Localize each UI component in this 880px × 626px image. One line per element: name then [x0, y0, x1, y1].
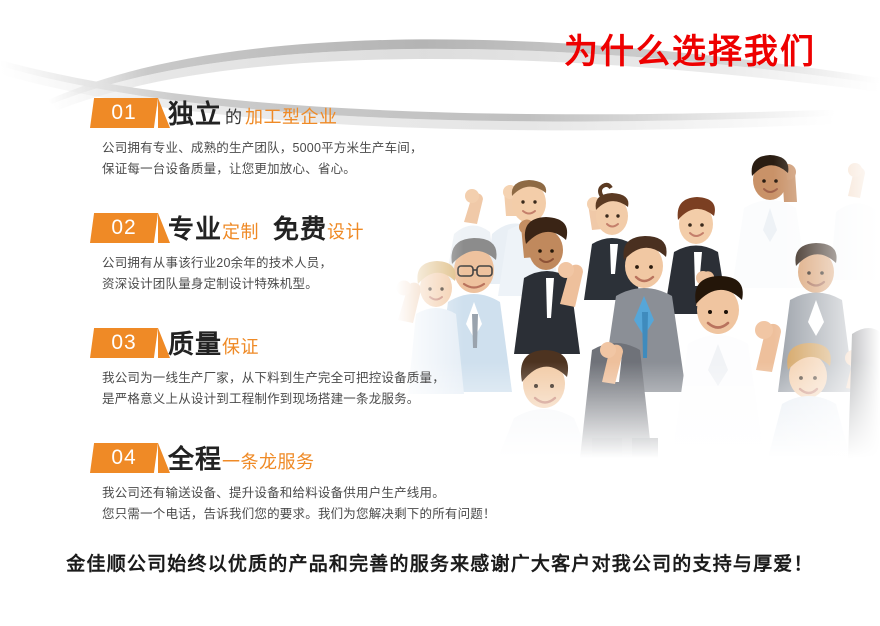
- feature-body: 我公司为一线生产厂家，从下料到生产完全可把控设备质量， 是严格意义上从设计到工程…: [102, 368, 480, 410]
- headline-accent: 保证: [222, 338, 259, 356]
- feature-body-line: 是严格意义上从设计到工程制作到现场搭建一条龙服务。: [102, 389, 480, 410]
- headline-text: 全程 一条龙服务: [168, 446, 315, 473]
- number-badge-01: 01: [90, 98, 158, 128]
- headline-text: 专业 定制 免费 设计: [168, 216, 364, 243]
- headline-strong: 独立: [168, 101, 222, 127]
- headline-text: 质量 保证: [168, 331, 259, 358]
- badge-number: 02: [90, 213, 158, 243]
- page-title: 为什么选择我们: [520, 24, 860, 73]
- headline-accent: 加工型企业: [245, 108, 338, 126]
- badge-flag-icon: [158, 213, 170, 243]
- feature-headline: 04 全程 一条龙服务: [90, 439, 480, 473]
- feature-body-line: 您只需一个电话，告诉我们您的要求。我们为您解决剩下的所有问题！: [102, 504, 480, 525]
- badge-flag-icon: [158, 98, 170, 128]
- badge-flag-icon: [158, 328, 170, 358]
- number-badge-03: 03: [90, 328, 158, 358]
- feature-block-01: 01 独立 的 加工型企业 公司拥有专业、成熟的生产团队，5000平方米生产车间…: [90, 94, 480, 180]
- promo-banner: 为什么选择我们 01 独立 的 加工型企业 公司拥有专业、成熟的生产团队，500…: [0, 0, 880, 626]
- badge-number: 01: [90, 98, 158, 128]
- feature-block-04: 04 全程 一条龙服务 我公司还有输送设备、提升设备和给料设备供用户生产线用。 …: [90, 439, 480, 525]
- feature-body-line: 保证每一台设备质量，让您更加放心、省心。: [102, 159, 480, 180]
- feature-body-line: 公司拥有专业、成熟的生产团队，5000平方米生产车间，: [102, 138, 480, 159]
- footer-tagline: 金佳顺公司始终以优质的产品和完善的服务来感谢广大客户对我公司的支持与厚爱！: [0, 549, 880, 576]
- feature-body-line: 我公司为一线生产厂家，从下料到生产完全可把控设备质量，: [102, 368, 480, 389]
- headline-accent: 定制: [222, 223, 259, 241]
- feature-block-02: 02 专业 定制 免费 设计 公司拥有从事该行业20余年的技术人员， 资深设计团…: [90, 209, 480, 295]
- feature-body: 公司拥有从事该行业20余年的技术人员， 资深设计团队量身定制设计特殊机型。: [102, 253, 480, 295]
- headline-strong: 质量: [168, 331, 222, 357]
- feature-body-line: 我公司还有输送设备、提升设备和给料设备供用户生产线用。: [102, 483, 480, 504]
- feature-body: 公司拥有专业、成熟的生产团队，5000平方米生产车间， 保证每一台设备质量，让您…: [102, 138, 480, 180]
- badge-number: 03: [90, 328, 158, 358]
- feature-body: 我公司还有输送设备、提升设备和给料设备供用户生产线用。 您只需一个电话，告诉我们…: [102, 483, 480, 525]
- number-badge-02: 02: [90, 213, 158, 243]
- feature-headline: 01 独立 的 加工型企业: [90, 94, 480, 128]
- headline-strong-2: 免费: [273, 216, 327, 242]
- headline-accent-2: 设计: [327, 223, 364, 241]
- team-thumbs-up-photo: [396, 138, 880, 458]
- headline-accent: 一条龙服务: [222, 453, 315, 471]
- headline-strong: 全程: [168, 446, 222, 472]
- feature-headline: 03 质量 保证: [90, 324, 480, 358]
- headline-mid: 的: [225, 109, 242, 126]
- feature-body-line: 公司拥有从事该行业20余年的技术人员，: [102, 253, 480, 274]
- badge-number: 04: [90, 443, 158, 473]
- feature-headline: 02 专业 定制 免费 设计: [90, 209, 480, 243]
- number-badge-04: 04: [90, 443, 158, 473]
- badge-flag-icon: [158, 443, 170, 473]
- headline-strong: 专业: [168, 216, 222, 242]
- headline-text: 独立 的 加工型企业: [168, 101, 338, 128]
- feature-block-03: 03 质量 保证 我公司为一线生产厂家，从下料到生产完全可把控设备质量， 是严格…: [90, 324, 480, 410]
- feature-body-line: 资深设计团队量身定制设计特殊机型。: [102, 274, 480, 295]
